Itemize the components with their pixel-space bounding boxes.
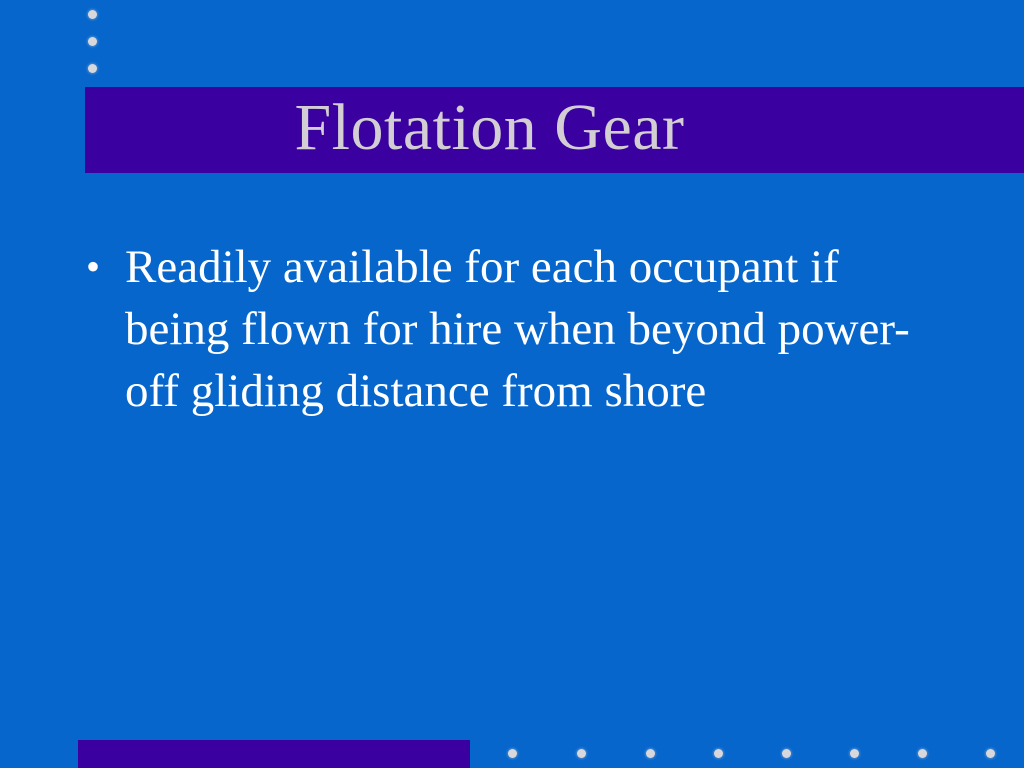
decorative-dot-icon xyxy=(714,749,723,758)
decorative-dot-icon xyxy=(986,749,995,758)
slide-body: • Readily available for each occupant if… xyxy=(86,236,966,422)
bullet-list-item: • Readily available for each occupant if… xyxy=(86,236,966,422)
decorative-dot-icon xyxy=(508,749,517,758)
decorative-dot-icon xyxy=(646,749,655,758)
decorative-dot-icon xyxy=(88,10,97,19)
decorative-dot-icon xyxy=(782,749,791,758)
slide-title: Flotation Gear xyxy=(85,95,1024,161)
decorative-dot-icon xyxy=(850,749,859,758)
title-banner: Flotation Gear xyxy=(85,87,1024,173)
decorative-dot-icon xyxy=(577,749,586,758)
bottom-accent-bar xyxy=(78,740,470,768)
bullet-text: Readily available for each occupant if b… xyxy=(125,236,925,422)
decorative-dot-icon xyxy=(88,64,97,73)
bullet-marker-icon: • xyxy=(86,236,125,298)
decorative-dot-icon xyxy=(88,37,97,46)
decorative-dot-icon xyxy=(918,749,927,758)
presentation-slide: Flotation Gear • Readily available for e… xyxy=(0,0,1024,768)
